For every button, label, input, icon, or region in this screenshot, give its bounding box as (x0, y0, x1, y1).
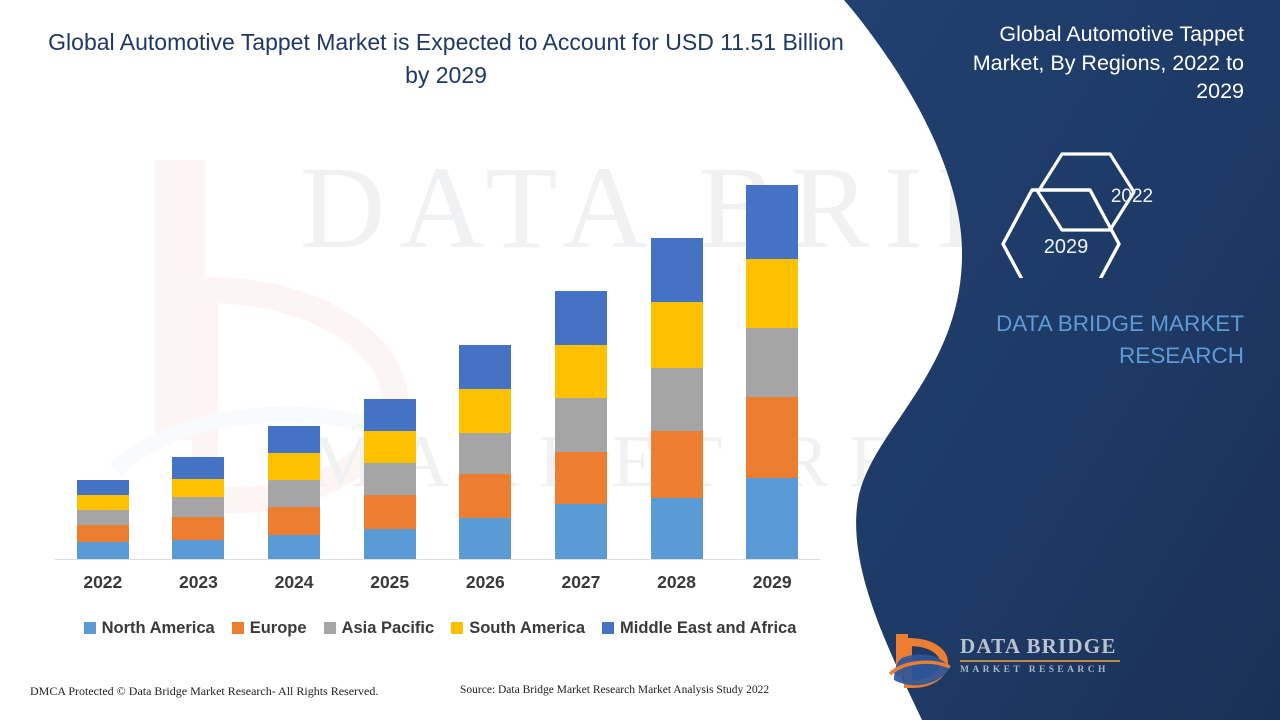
bar-segment (459, 389, 511, 433)
bar-group (77, 161, 129, 560)
x-axis-tick-labels: 20222023202420252026202720282029 (55, 572, 820, 602)
logo-divider (960, 660, 1120, 662)
legend-swatch-icon (451, 622, 463, 634)
legend-label: Europe (250, 619, 307, 638)
bar-segment (364, 495, 416, 529)
bar-chart-plot (55, 160, 820, 560)
bar-segment (555, 504, 607, 560)
bar-segment (268, 507, 320, 535)
bar-segment (268, 426, 320, 453)
x-axis-tick: 2024 (259, 572, 329, 593)
bar-group (555, 161, 607, 560)
company-logo: DATA BRIDGE MARKET RESEARCH (888, 630, 1118, 692)
legend-item[interactable]: Middle East and Africa (602, 619, 796, 638)
bar-segment (746, 328, 798, 397)
bar-segment (268, 453, 320, 480)
bar-segment (651, 368, 703, 431)
logo-bottom-text: MARKET RESEARCH (960, 665, 1120, 675)
brand-panel: Global Automotive Tappet Market, By Regi… (810, 0, 1280, 720)
x-axis-tick: 2023 (163, 572, 233, 593)
bar-group (172, 161, 224, 560)
bar-segment (77, 525, 129, 542)
brand-name: DATA BRIDGE MARKET RESEARCH (944, 308, 1244, 372)
legend-item[interactable]: North America (84, 619, 215, 638)
bar-segment (268, 480, 320, 507)
legend-swatch-icon (602, 622, 614, 634)
bar-segment (77, 542, 129, 560)
bar-segment (172, 517, 224, 540)
bar-segment (555, 345, 607, 398)
bar-segment (459, 433, 511, 474)
x-axis-tick: 2025 (355, 572, 425, 593)
bar-segment (172, 497, 224, 517)
bar-group (364, 161, 416, 560)
legend-item[interactable]: Europe (232, 619, 307, 638)
bar-segment (77, 480, 129, 495)
bar-segment (364, 529, 416, 560)
bar-segment (746, 185, 798, 259)
bar-segment (555, 398, 607, 452)
bar-segment (172, 479, 224, 497)
hexagon-2029-label: 2029 (1010, 236, 1122, 259)
footer: DMCA Protected © Data Bridge Market Rese… (0, 684, 860, 706)
page-title: Global Automotive Tappet Market is Expec… (46, 26, 846, 91)
footer-copyright: DMCA Protected © Data Bridge Market Rese… (30, 684, 378, 699)
bar-segment (77, 510, 129, 525)
bar-segment (459, 345, 511, 389)
x-axis-tick: 2026 (450, 572, 520, 593)
x-axis-tick: 2022 (68, 572, 138, 593)
bar-segment (746, 259, 798, 328)
bar-segment (746, 397, 798, 478)
bar-group (268, 161, 320, 560)
legend-label: South America (469, 619, 585, 638)
bar-segment (651, 238, 703, 301)
bar-segment (268, 535, 320, 560)
bar-segment (746, 478, 798, 560)
bar-segment (364, 463, 416, 495)
data-bridge-logo-icon (888, 630, 954, 692)
bar-segment (651, 431, 703, 498)
panel-title: Global Automotive Tappet Market, By Regi… (944, 20, 1244, 106)
bar-segment (172, 540, 224, 560)
legend-label: North America (102, 619, 215, 638)
bar-group (746, 161, 798, 560)
bar-segment (651, 302, 703, 368)
legend-swatch-icon (84, 622, 96, 634)
legend-label: Middle East and Africa (620, 619, 796, 638)
logo-top-text: DATA BRIDGE (960, 636, 1120, 657)
legend-swatch-icon (232, 622, 244, 634)
bar-segment (364, 431, 416, 463)
x-axis-tick: 2029 (737, 572, 807, 593)
bar-segment (364, 399, 416, 431)
infographic-canvas: DATA BRIDGE MARKET RESEARCH Global Autom… (0, 0, 1280, 720)
bar-segment (651, 498, 703, 560)
hexagon-2022-label: 2022 (1086, 186, 1178, 208)
x-axis-tick: 2028 (642, 572, 712, 593)
bar-group (651, 161, 703, 560)
logo-wordmark: DATA BRIDGE MARKET RESEARCH (960, 636, 1120, 675)
hexagon-badges: 2022 2029 (998, 148, 1188, 278)
bar-segment (172, 457, 224, 478)
x-axis-tick: 2027 (546, 572, 616, 593)
bar-group (459, 161, 511, 560)
legend-swatch-icon (324, 622, 336, 634)
x-axis-line (55, 559, 820, 560)
bar-segment (459, 518, 511, 560)
footer-source: Source: Data Bridge Market Research Mark… (460, 684, 769, 696)
bar-segment (555, 291, 607, 345)
legend-item[interactable]: South America (451, 619, 585, 638)
legend-label: Asia Pacific (342, 619, 435, 638)
bar-segment (459, 474, 511, 518)
chart-legend: North AmericaEuropeAsia PacificSouth Ame… (55, 614, 825, 642)
bar-segment (77, 495, 129, 510)
legend-item[interactable]: Asia Pacific (324, 619, 435, 638)
bar-segment (555, 452, 607, 504)
